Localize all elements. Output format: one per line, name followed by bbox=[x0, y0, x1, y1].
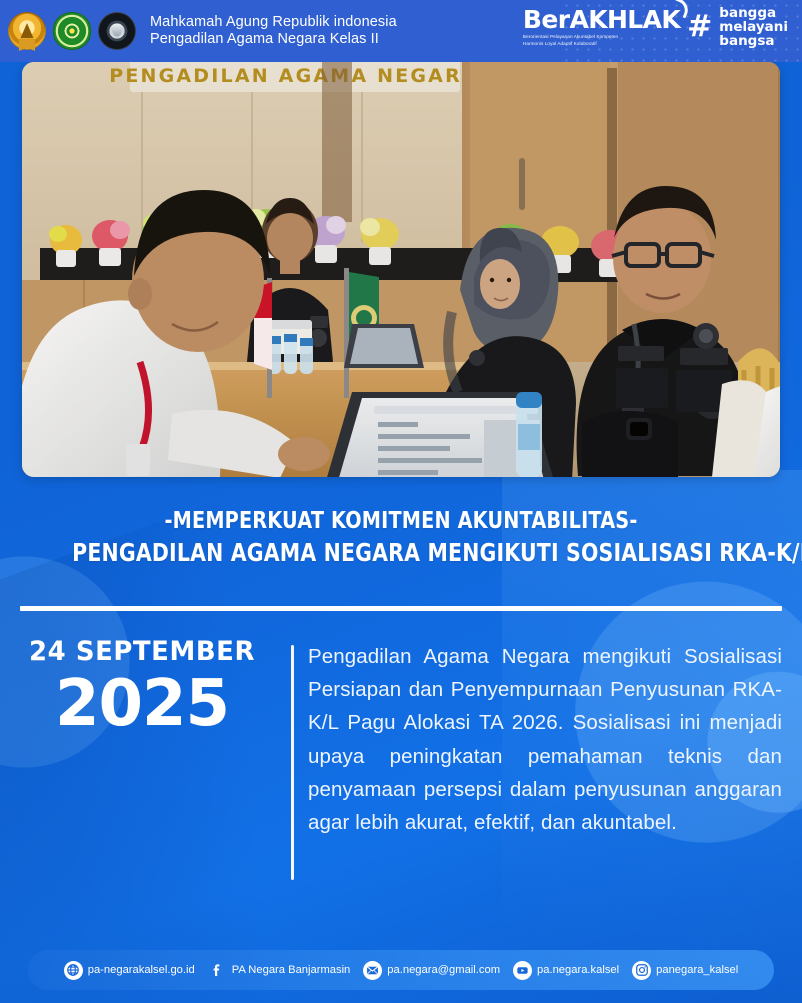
berakhlak-subtitle-line-2: Harmonis Loyal Adaptif Kolaboratif bbox=[523, 41, 680, 48]
berakhlak-word: BerAKHLAK bbox=[523, 7, 680, 32]
vertical-divider bbox=[291, 645, 294, 880]
body-paragraph: Pengadilan Agama Negara mengikuti Sosial… bbox=[308, 640, 782, 839]
page-header: Mahkamah Agung Republik indonesia Pengad… bbox=[0, 0, 802, 62]
contact-instagram-label: panegara_kalsel bbox=[656, 964, 738, 976]
tagline-line-3: bangsa bbox=[719, 34, 788, 48]
event-date-year: 2025 bbox=[0, 671, 284, 738]
hash-icon: # bbox=[687, 12, 712, 42]
contact-email-label: pa.negara@gmail.com bbox=[387, 964, 500, 976]
globe-icon bbox=[64, 961, 83, 980]
berakhlak-wordmark: BerAKHLAK Berorientasi Pelayanan Akuntab… bbox=[523, 7, 680, 47]
gold-rosette-logo bbox=[8, 12, 46, 50]
contact-email[interactable]: pa.negara@gmail.com bbox=[363, 961, 500, 980]
berakhlak-tagline: bangga melayani bangsa bbox=[719, 6, 788, 48]
facebook-icon bbox=[208, 961, 227, 980]
event-date: 24 SEPTEMBER 2025 bbox=[0, 636, 284, 738]
envelope-icon bbox=[363, 961, 382, 980]
berakhlak-logo: BerAKHLAK Berorientasi Pelayanan Akuntab… bbox=[523, 6, 788, 48]
contact-website-label: pa-negarakalsel.go.id bbox=[88, 964, 195, 976]
contact-bar: pa-negarakalsel.go.id PA Negara Banjarma… bbox=[28, 950, 774, 990]
youtube-icon bbox=[513, 961, 532, 980]
contact-website[interactable]: pa-negarakalsel.go.id bbox=[64, 961, 195, 980]
berakhlak-subtitle-line-1: Berorientasi Pelayanan Akuntabel Kompete… bbox=[523, 34, 680, 41]
instagram-icon bbox=[632, 961, 651, 980]
event-date-day-month: 24 SEPTEMBER bbox=[6, 636, 279, 667]
tagline-line-1: bangga bbox=[719, 6, 788, 20]
headline-line-2: PENGADILAN AGAMA NEGARA MENGIKUTI SOSIAL… bbox=[72, 536, 730, 569]
headline-line-1: -MEMPERKUAT KOMITMEN AKUNTABILITAS- bbox=[72, 505, 730, 536]
contact-instagram[interactable]: panegara_kalsel bbox=[632, 961, 738, 980]
tagline-line-2: melayani bbox=[719, 20, 788, 34]
contact-facebook[interactable]: PA Negara Banjarmasin bbox=[208, 961, 351, 980]
dark-emblem-logo bbox=[98, 12, 136, 50]
contact-youtube-label: pa.negara.kalsel bbox=[537, 964, 619, 976]
berakhlak-subtitle: Berorientasi Pelayanan Akuntabel Kompete… bbox=[523, 34, 680, 47]
headline: -MEMPERKUAT KOMITMEN AKUNTABILITAS- PENG… bbox=[0, 505, 802, 569]
contact-facebook-label: PA Negara Banjarmasin bbox=[232, 964, 351, 976]
green-emblem-logo bbox=[53, 12, 91, 50]
institution-line-2: Pengadilan Agama Negara Kelas II bbox=[150, 31, 397, 48]
header-identity: Mahkamah Agung Republik indonesia Pengad… bbox=[0, 12, 397, 50]
event-photo-illustration: PENGADILAN AGAMA NEGARA bbox=[22, 62, 780, 477]
horizontal-divider bbox=[20, 606, 782, 611]
institution-line-1: Mahkamah Agung Republik indonesia bbox=[150, 14, 397, 31]
institution-name: Mahkamah Agung Republik indonesia Pengad… bbox=[150, 14, 397, 48]
poster-root: Mahkamah Agung Republik indonesia Pengad… bbox=[0, 0, 802, 1003]
event-photo: PENGADILAN AGAMA NEGARA bbox=[22, 62, 780, 477]
contact-youtube[interactable]: pa.negara.kalsel bbox=[513, 961, 619, 980]
